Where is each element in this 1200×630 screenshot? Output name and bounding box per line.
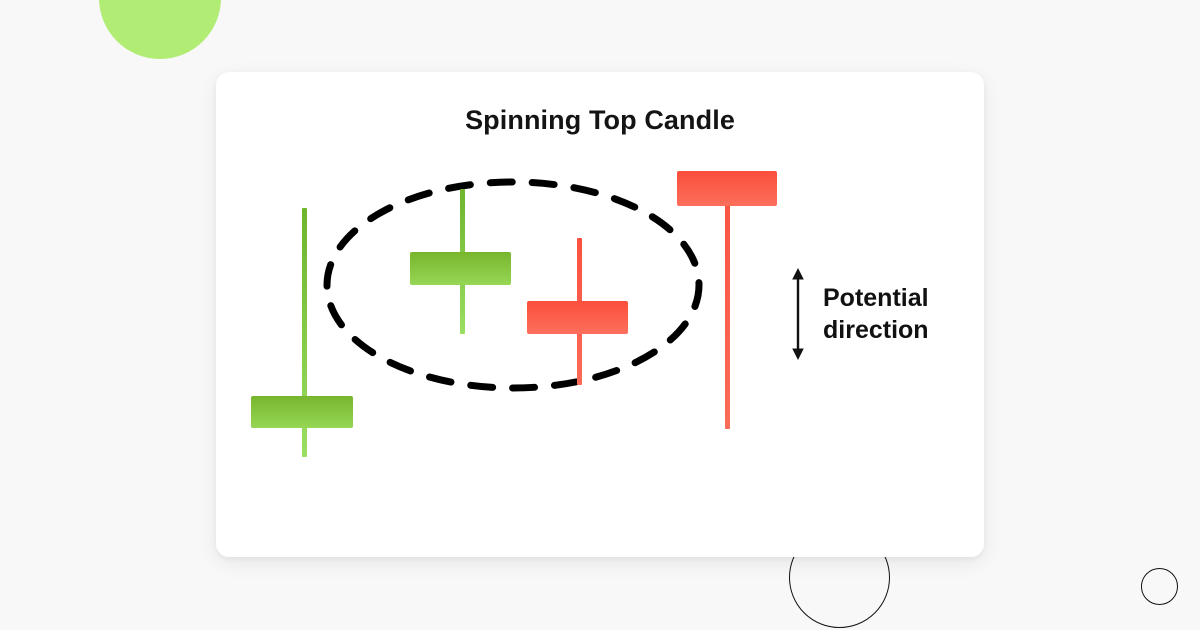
candle-4-body: [677, 171, 777, 206]
candle-1-body: [251, 396, 353, 428]
decorative-green-circle: [99, 0, 221, 59]
decorative-outline-circle-small: [1141, 568, 1178, 605]
candle-3-body: [527, 301, 628, 334]
double-arrow-vertical-icon: [787, 268, 809, 360]
candlestick-chart: Potential direction: [216, 72, 984, 557]
candle-4-wick: [725, 171, 730, 429]
chart-card: Spinning Top Candle Potential direction: [216, 72, 984, 557]
direction-annotation-label: Potential direction: [823, 282, 929, 346]
dashed-ellipse-icon: [323, 178, 703, 392]
candle-2-body: [410, 252, 511, 285]
